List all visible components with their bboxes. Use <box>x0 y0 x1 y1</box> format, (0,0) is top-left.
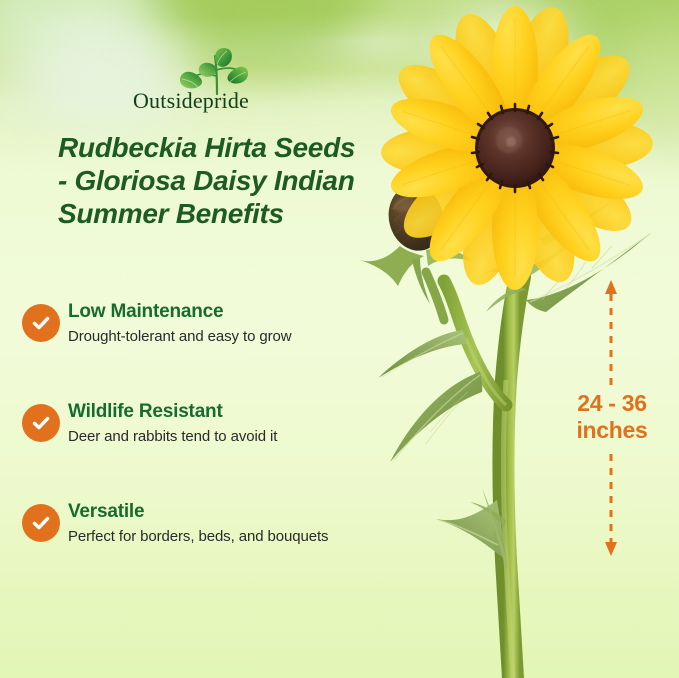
check-circle-icon <box>22 304 60 342</box>
height-value: 24 - 36 <box>577 390 647 416</box>
check-circle-icon <box>22 504 60 542</box>
height-unit: inches <box>576 417 647 443</box>
check-circle-icon <box>22 404 60 442</box>
arrow-down-dashed-icon <box>605 454 617 556</box>
infographic-canvas: Outsidepride Rudbeckia Hirta Seeds - Glo… <box>0 0 679 678</box>
page-title: Rudbeckia Hirta Seeds - Gloriosa Daisy I… <box>58 131 358 230</box>
brand-logo: Outsidepride <box>116 48 266 118</box>
height-label: 24 - 36inches <box>545 390 679 444</box>
height-annotation: 24 - 36inches <box>545 272 679 562</box>
brand-name: Outsidepride <box>116 88 266 114</box>
arrow-up-dashed-icon <box>605 280 617 390</box>
